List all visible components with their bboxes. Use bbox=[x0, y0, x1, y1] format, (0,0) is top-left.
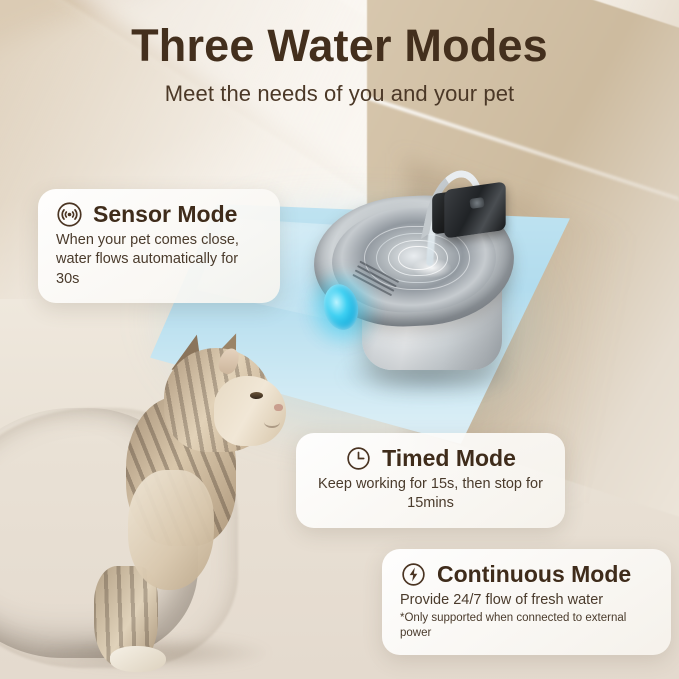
fountain-mode-button[interactable] bbox=[469, 197, 484, 209]
header: Three Water Modes Meet the needs of you … bbox=[0, 0, 679, 107]
card-title: Continuous Mode bbox=[437, 562, 631, 587]
feature-card-timed-mode[interactable]: Timed Mode Keep working for 15s, then st… bbox=[296, 433, 565, 528]
cat-eye bbox=[250, 392, 263, 399]
clock-icon bbox=[345, 445, 372, 472]
card-header: Continuous Mode bbox=[400, 561, 653, 588]
card-description: When your pet comes close, water flows a… bbox=[56, 231, 262, 289]
cat-mouth bbox=[264, 416, 280, 428]
card-header: Timed Mode bbox=[314, 445, 547, 472]
card-title: Timed Mode bbox=[382, 446, 516, 471]
fountain-control-module bbox=[444, 181, 505, 238]
feature-card-continuous-mode[interactable]: Continuous Mode Provide 24/7 flow of fre… bbox=[382, 549, 671, 655]
cat-paw bbox=[110, 646, 166, 672]
card-description: Provide 24/7 flow of fresh water bbox=[400, 591, 653, 610]
cat-face bbox=[214, 376, 286, 446]
lightning-bolt-icon bbox=[400, 561, 427, 588]
card-title: Sensor Mode bbox=[93, 202, 237, 227]
tabby-cat bbox=[0, 330, 288, 679]
page-subtitle: Meet the needs of you and your pet bbox=[0, 81, 679, 107]
product-marketing-scene: Three Water Modes Meet the needs of you … bbox=[0, 0, 679, 679]
sensor-wave-icon bbox=[56, 201, 83, 228]
card-footnote: *Only supported when connected to extern… bbox=[400, 611, 653, 640]
page-title: Three Water Modes bbox=[0, 22, 679, 71]
card-header: Sensor Mode bbox=[56, 201, 262, 228]
cat-chest bbox=[128, 470, 214, 590]
card-description: Keep working for 15s, then stop for 15mi… bbox=[314, 475, 547, 514]
pet-water-fountain bbox=[310, 186, 525, 376]
feature-card-sensor-mode[interactable]: Sensor Mode When your pet comes close, w… bbox=[38, 189, 280, 303]
cat-nose bbox=[274, 404, 283, 411]
